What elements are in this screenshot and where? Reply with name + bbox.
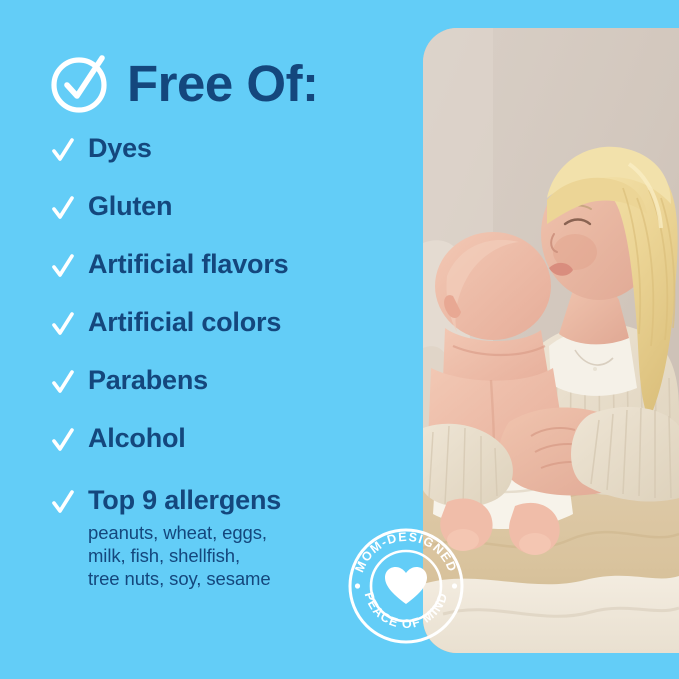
list-item: Parabens [52, 365, 402, 423]
allergen-detail-line-2: milk, fish, shellfish, [88, 544, 281, 567]
check-icon [52, 135, 74, 165]
check-icon [52, 425, 74, 455]
check-icon [52, 193, 74, 223]
mom-designed-badge: MOM-DESIGNED PEACE OF MIND [347, 527, 465, 645]
check-icon [52, 251, 74, 281]
free-of-list: Dyes Gluten Artificial flavors Artificia… [52, 133, 402, 590]
page-title-row: Free Of: [49, 52, 319, 114]
list-item: Alcohol [52, 423, 402, 481]
check-icon [52, 367, 74, 397]
allergen-detail-line-3: tree nuts, soy, sesame [88, 567, 281, 590]
list-item-label: Gluten [88, 191, 172, 221]
badge-dot-left [355, 583, 360, 588]
list-item: Dyes [52, 133, 402, 191]
list-item: Artificial colors [52, 307, 402, 365]
heart-icon [385, 567, 427, 604]
badge-seal-graphic: MOM-DESIGNED PEACE OF MIND [347, 527, 465, 645]
list-item: Gluten [52, 191, 402, 249]
check-icon [52, 309, 74, 339]
list-item-label: Alcohol [88, 423, 186, 453]
list-item: Artificial flavors [52, 249, 402, 307]
list-item-label: Parabens [88, 365, 208, 395]
list-item-label: Dyes [88, 133, 152, 163]
list-item-label: Artificial colors [88, 307, 281, 337]
page-title: Free Of: [127, 58, 319, 109]
list-item-label: Artificial flavors [88, 249, 288, 279]
allergen-detail-line-1: peanuts, wheat, eggs, [88, 521, 281, 544]
promo-graphic: Free Of: Dyes Gluten Artificial flavors [0, 0, 679, 679]
circle-check-icon [49, 52, 111, 114]
badge-dot-right [452, 583, 457, 588]
check-icon [52, 487, 74, 517]
list-item-label: Top 9 allergens [88, 485, 281, 515]
